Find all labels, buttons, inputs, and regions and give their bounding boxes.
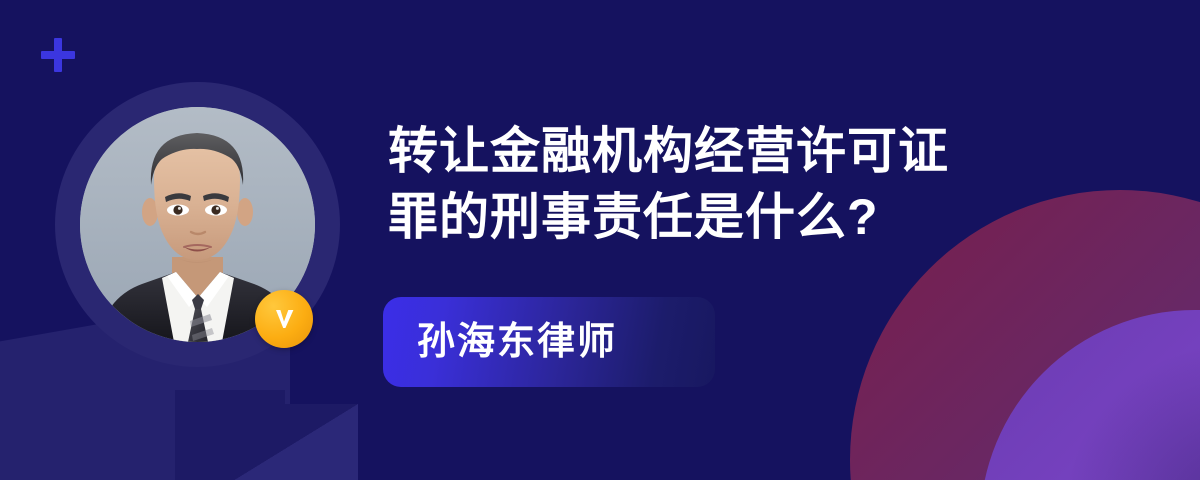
lawyer-question-banner: 转让金融机构经营许可证 罪的刑事责任是什么? 孙海东律师 [0,0,1200,480]
lawyer-name-badge[interactable]: 孙海东律师 [383,297,715,387]
decorative-triangle-shape [228,404,358,480]
headline-block: 转让金融机构经营许可证 罪的刑事责任是什么? [388,118,1148,250]
verified-badge-icon [255,290,313,348]
page-title: 转让金融机构经营许可证 罪的刑事责任是什么? [388,118,1148,250]
plus-icon [40,37,76,73]
decorative-arc-mask [1060,340,1200,480]
avatar [55,82,340,367]
lawyer-name-label: 孙海东律师 [417,323,617,361]
